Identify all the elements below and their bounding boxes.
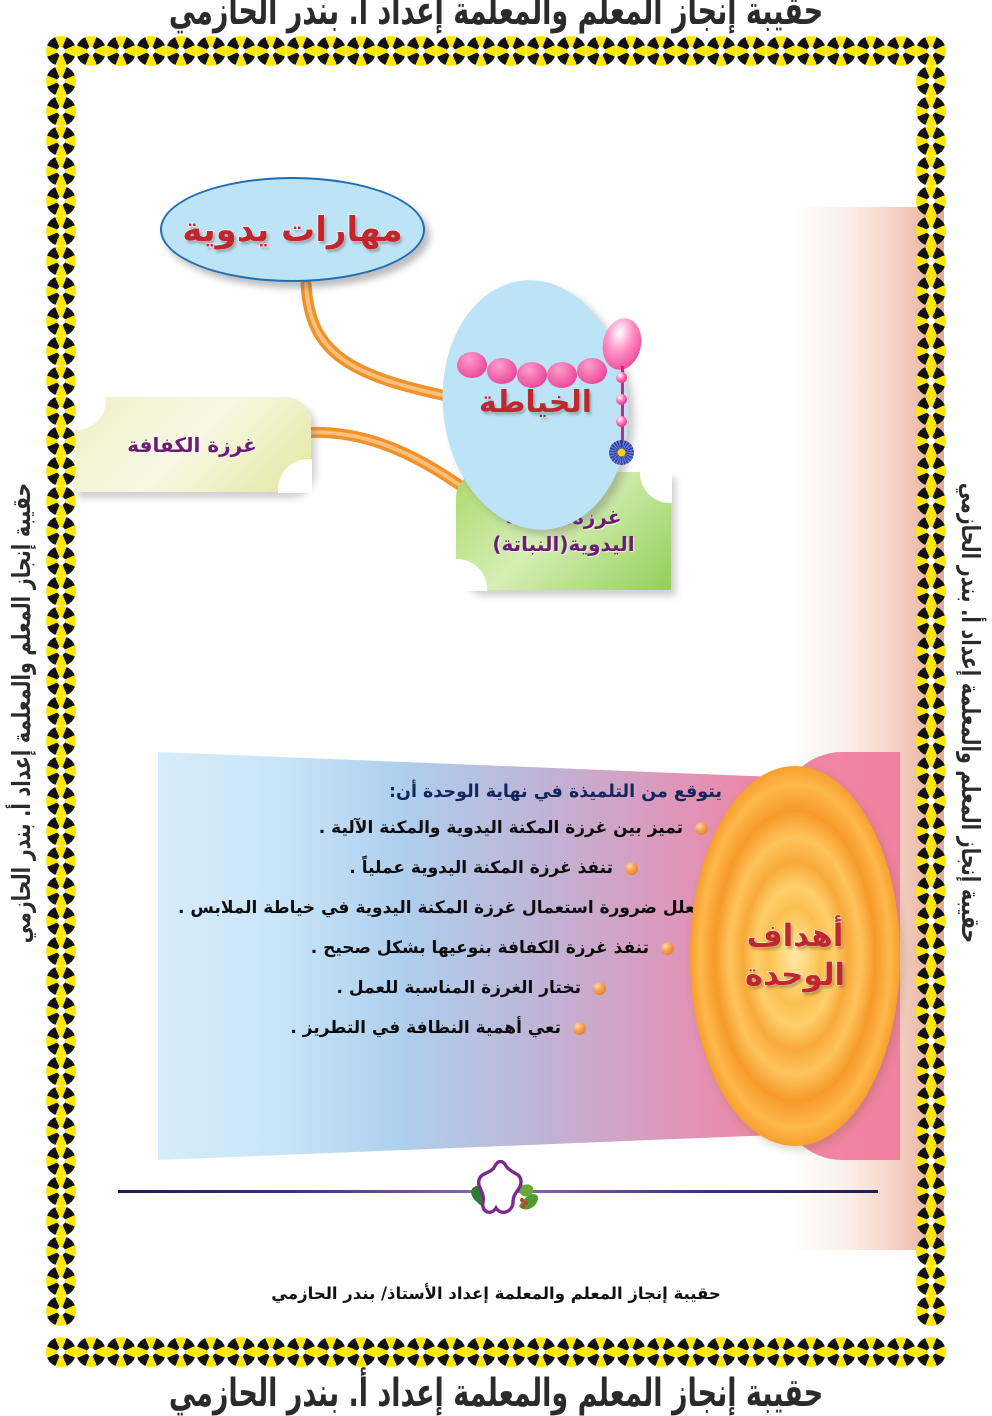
hazard-border-icon — [856, 1337, 886, 1367]
hazard-border-icon — [76, 1337, 106, 1367]
unit-objectives-label-2: الوحدة — [745, 956, 845, 995]
node-sewing-label: الخياطة — [443, 385, 628, 420]
hazard-border-icon — [166, 1337, 196, 1367]
footer-credit: حقيبة إنجاز المعلم والمعلمة إعداد الأستا… — [48, 1284, 944, 1303]
berry — [521, 1204, 525, 1208]
bullet-icon — [695, 822, 708, 835]
objective-text: تنفذ غرزة المكنة اليدوية عملياً . — [349, 858, 613, 878]
objective-item: تختار الغرزة المناسبة للعمل . — [194, 978, 726, 998]
berry — [520, 1198, 524, 1202]
hazard-border-icon — [316, 1337, 346, 1367]
tassel-icon — [609, 440, 634, 465]
node-machine-stitch-label-2: اليدوية(النباتة) — [492, 531, 634, 558]
hazard-border-icon — [676, 1337, 706, 1367]
hazard-border-icon — [346, 1337, 376, 1367]
node-manual-skills-label: مهارات يدوية — [182, 210, 402, 250]
hazard-border-icon — [616, 1337, 646, 1367]
node-hem-stitch-label: غرزة الكفافة — [127, 433, 257, 457]
node-sewing[interactable]: الخياطة — [443, 280, 628, 530]
objectives-list: تميز بين غرزة المكنة اليدوية والمكنة الآ… — [194, 818, 726, 1038]
hazard-border-icon — [466, 1337, 496, 1367]
flower-petals — [479, 1162, 521, 1213]
bead — [616, 372, 627, 383]
hazard-border-icon — [256, 1337, 286, 1367]
objective-item: تعي أهمية النظافة في التطريز . — [194, 1018, 726, 1038]
hazard-border-icon — [46, 1337, 76, 1367]
objective-text: تميز بين غرزة المكنة اليدوية والمكنة الآ… — [319, 818, 683, 838]
hazard-border-icon — [586, 1337, 616, 1367]
hazard-border-icon — [826, 1337, 856, 1367]
hazard-border-icon — [556, 1337, 586, 1367]
hazard-border-icon — [706, 1337, 736, 1367]
hazard-border-icon — [886, 1337, 916, 1367]
objective-text: تنفذ غرزة الكفافة بنوعيها بشكل صحيح . — [311, 938, 649, 958]
node-manual-skills[interactable]: مهارات يدوية — [160, 177, 425, 282]
hazard-border-icon — [226, 1337, 256, 1367]
objective-text: تعي أهمية النظافة في التطريز . — [290, 1018, 561, 1038]
pincushion-scallop — [487, 358, 517, 384]
pincushion-scallop — [577, 358, 607, 384]
hazard-border-icon — [106, 1337, 136, 1367]
berry — [524, 1201, 528, 1205]
watermark-left: حقيبة إنجاز المعلم والمعلمة إعداد أ. بند… — [8, 393, 37, 1033]
objective-text: تعلل ضرورة استعمال غرزة المكنة اليدوية ف… — [178, 898, 701, 918]
hazard-border-icon — [916, 1337, 946, 1367]
mindmap: مهارات يدوية الخياطة غرزة الكفافة غرزة ا… — [48, 62, 944, 722]
hazard-border-icon — [496, 1337, 526, 1367]
bullet-icon — [625, 862, 638, 875]
pincushion-scallop — [457, 352, 487, 378]
objective-item: تعلل ضرورة استعمال غرزة المكنة اليدوية ف… — [194, 898, 726, 918]
hazard-border-icon — [436, 1337, 466, 1367]
objectives-section: يتوقع من التلميذة في نهاية الوحدة أن: تم… — [158, 752, 900, 1160]
unit-objectives-label-1: أهداف — [747, 917, 844, 956]
hazard-border-icon — [766, 1337, 796, 1367]
objective-item: تنفذ غرزة المكنة اليدوية عملياً . — [194, 858, 726, 878]
objective-item: تميز بين غرزة المكنة اليدوية والمكنة الآ… — [194, 818, 726, 838]
page-canvas: مهارات يدوية الخياطة غرزة الكفافة غرزة ا… — [48, 62, 944, 1340]
hazard-border-icon — [136, 1337, 166, 1367]
watermark-right: حقيبة إنجاز المعلم والمعلمة إعداد أ. بند… — [956, 393, 985, 1033]
hazard-border-icon — [526, 1337, 556, 1367]
hazard-border-icon — [736, 1337, 766, 1367]
flower-ornament-icon — [463, 1160, 549, 1230]
hazard-border-icon — [376, 1337, 406, 1367]
unit-objectives-badge[interactable]: أهداف الوحدة — [690, 766, 900, 1146]
objective-text: تختار الغرزة المناسبة للعمل . — [337, 978, 581, 998]
bullet-icon — [593, 982, 606, 995]
hazard-border-icon — [796, 1337, 826, 1367]
objectives-heading: يتوقع من التلميذة في نهاية الوحدة أن: — [194, 782, 722, 802]
watermark-top: حقيبة إنجاز المعلم والمعلمة إعداد أ. بند… — [169, 0, 823, 34]
hazard-border-icon — [406, 1337, 436, 1367]
hazard-border-icon — [646, 1337, 676, 1367]
hazard-border-icon — [286, 1337, 316, 1367]
connector-skills — [306, 284, 466, 400]
objective-item: تنفذ غرزة الكفافة بنوعيها بشكل صحيح . — [194, 938, 726, 958]
hazard-border-icon — [196, 1337, 226, 1367]
watermark-bottom: حقيبة إنجاز المعلم والمعلمة إعداد أ. بند… — [169, 1371, 823, 1416]
node-hem-stitch[interactable]: غرزة الكفافة — [73, 397, 311, 492]
bullet-icon — [661, 942, 674, 955]
bullet-icon — [573, 1022, 586, 1035]
